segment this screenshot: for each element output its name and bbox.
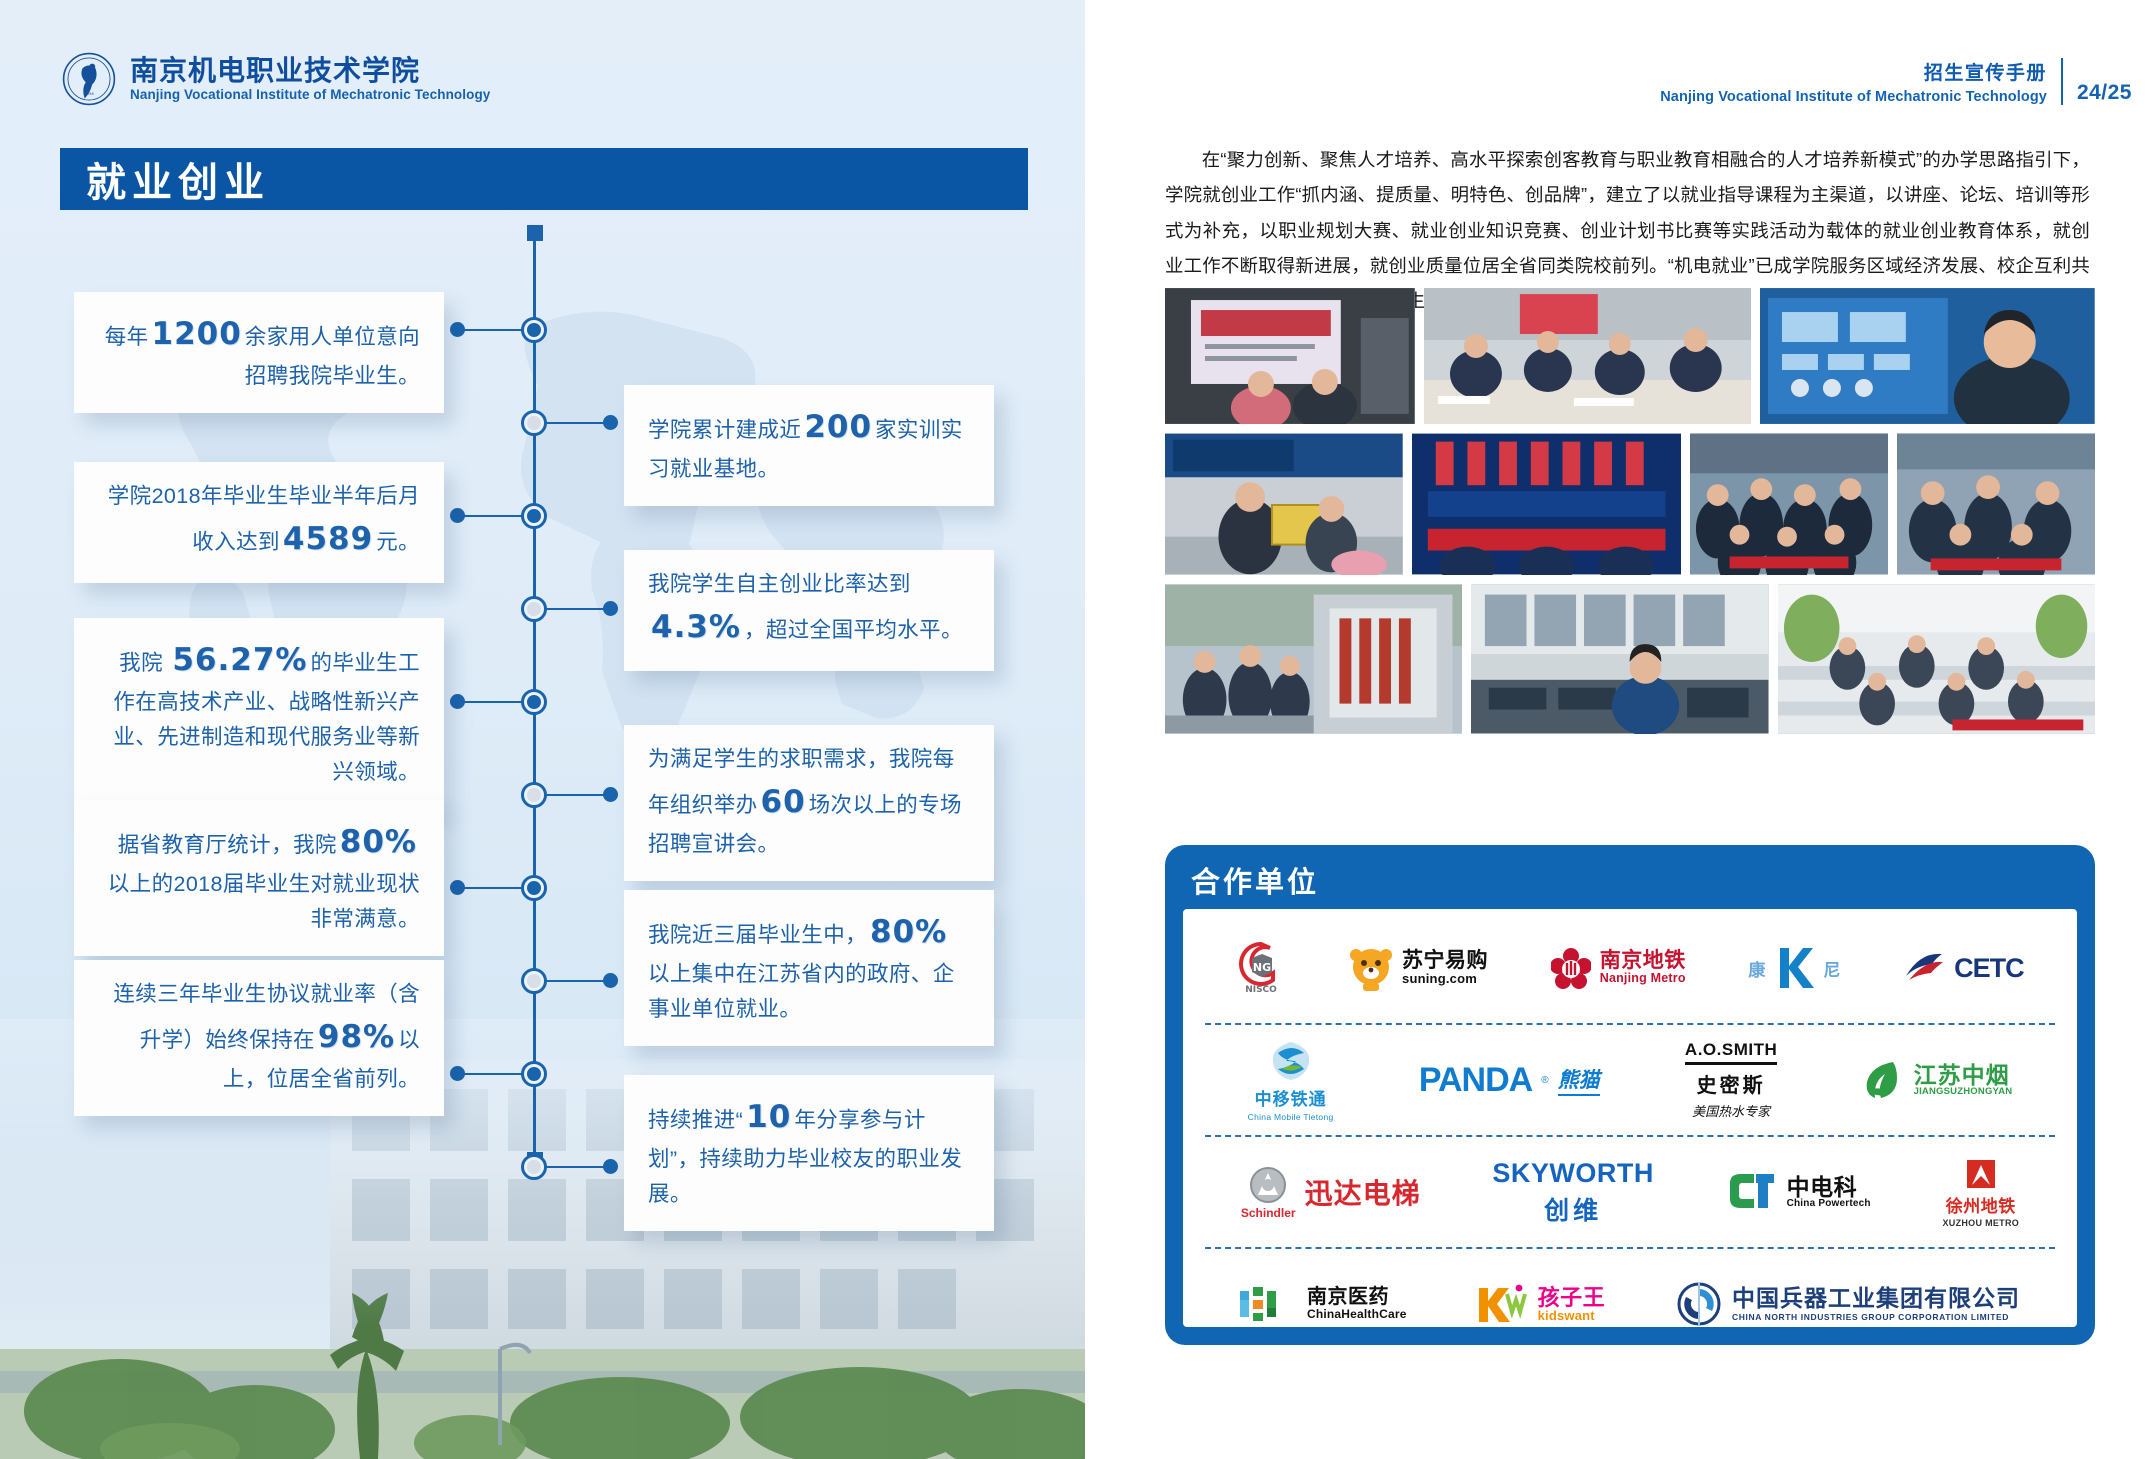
timeline-connector-endcap (603, 973, 618, 988)
timeline-connector-endcap (603, 601, 618, 616)
timeline-node-core (527, 509, 541, 523)
employment-timeline: 每年1200余家用人单位意向招聘我院毕业生。学院累计建成近200家实训实习就业基… (0, 0, 1085, 1459)
timeline-card-text: 据省教育厅统计，我院80%以上的2018届毕业生对就业现状非常满意。 (98, 817, 420, 937)
timeline-text-run: 元。 (376, 530, 420, 554)
panda-wordmark: PANDA (1419, 1061, 1532, 1100)
kangni-logo[interactable]: 康 尼 (1748, 945, 1840, 991)
timeline-highlight-number: 56.27% (169, 642, 310, 678)
timeline-node-core (527, 416, 541, 430)
powertech-name-en: China Powertech (1787, 1199, 1871, 1210)
timeline-text-run: 以上的2018届毕业生对就业现状非常满意。 (108, 872, 420, 931)
jiangsu-zhongyan-logo[interactable]: 江苏中烟 JIANGSUZHONGYAN (1863, 1058, 2013, 1102)
timeline-card-3: 学院2018年毕业生毕业半年后月收入达到4589元。 (74, 462, 444, 583)
brochure-title-cn: 招生宣传手册 (1660, 58, 2047, 85)
timeline-highlight-number: 60 (758, 784, 809, 820)
powertech-name-cn: 中电科 (1787, 1175, 1871, 1199)
timeline-card-text: 我院学生自主创业比率达到4.3%，超过全国平均水平。 (648, 567, 970, 652)
timeline-connector-endcap (603, 1159, 618, 1174)
ao-smith-logo[interactable]: A.O.SMITH 史密斯 美国热水专家 (1685, 1040, 1777, 1120)
timeline-connector-endcap (450, 694, 465, 709)
tietong-swirl-icon (1268, 1039, 1314, 1083)
timeline-card-text: 为满足学生的求职需求，我院每年组织举办60场次以上的专场招聘宣讲会。 (648, 742, 970, 862)
skyworth-wordmark: SKYWORTH (1492, 1158, 1654, 1189)
timeline-card-text: 连续三年毕业生协议就业率（含升学）始终保持在98%以上，位居全省前列。 (98, 977, 420, 1097)
photo-meeting-room (1424, 288, 1752, 424)
xuzhou-metro-name-cn: 徐州地铁 (1946, 1192, 2016, 1217)
timeline-highlight-number: 98% (315, 1019, 398, 1055)
kidswant-kw-icon (1477, 1284, 1529, 1324)
china-north-industries-logo[interactable]: 中国兵器工业集团有限公司 CHINA NORTH INDUSTRIES GROU… (1675, 1280, 2020, 1328)
tietong-name-en: China Mobile Tietong (1248, 1112, 1334, 1122)
suning-logo[interactable]: 苏宁易购 suning.com (1349, 945, 1488, 991)
photo-campus-recruitment (1165, 584, 1462, 734)
nisco-label: NISCO (1246, 985, 1278, 995)
brand-name-en: Nanjing Vocational Institute of Mechatro… (130, 88, 490, 102)
ao-smith-name-cn: 史密斯 (1697, 1069, 1766, 1098)
timeline-connector-endcap (450, 1066, 465, 1081)
timeline-highlight-number: 80% (867, 914, 950, 950)
timeline-text-run: ，超过全国平均水平。 (744, 618, 963, 642)
nanjing-metro-name-en: Nanjing Metro (1600, 972, 1686, 985)
cetc-swoosh-icon (1903, 950, 1945, 986)
institution-brand: 1956 南京机电职业技术学院 Nanjing Vocational Insti… (62, 52, 490, 106)
photo-equipment-training (1760, 288, 2095, 424)
panda-name-cn: 熊猫 (1558, 1064, 1600, 1096)
timeline-node-core (527, 1160, 541, 1174)
zhongyan-name-cn: 江苏中烟 (1914, 1063, 2013, 1087)
norinco-name-cn: 中国兵器工业集团有限公司 (1732, 1286, 2020, 1310)
timeline-card-1: 每年1200余家用人单位意向招聘我院毕业生。 (74, 292, 444, 413)
partners-panel: 合作单位 NG NISCO (1165, 845, 2095, 1345)
photo-office-workplace (1778, 584, 2095, 734)
timeline-connector-endcap (450, 880, 465, 895)
brand-name-cn: 南京机电职业技术学院 (130, 56, 490, 85)
kangni-char-ni: 尼 (1823, 956, 1840, 981)
xuzhou-metro-name-en: XUZHOU METRO (1942, 1218, 2019, 1228)
china-powertech-logo[interactable]: 中电科 China Powertech (1726, 1171, 1871, 1213)
timeline-card-10: 持续推进“10年分享参与计划”，持续助力毕业校友的职业发展。 (624, 1075, 994, 1231)
norinco-mark-icon (1675, 1280, 1723, 1328)
timeline-connector-endcap (450, 322, 465, 337)
timeline-highlight-number: 1200 (149, 316, 245, 352)
kidswant-name-en: kidswant (1538, 1309, 1606, 1323)
nanjing-pharma-name-en: ChinaHealthCare (1307, 1308, 1407, 1321)
timeline-card-8: 我院近三届毕业生中，80%以上集中在江苏省内的政府、企事业单位就业。 (624, 890, 994, 1046)
photo-award-ceremony (1165, 433, 1403, 575)
china-health-care-blocks-icon (1240, 1287, 1298, 1321)
kangni-char-kang: 康 (1748, 956, 1765, 981)
nisco-mark-icon: NG NISCO (1236, 940, 1286, 996)
timeline-card-6: 为满足学生的求职需求，我院每年组织举办60场次以上的专场招聘宣讲会。 (624, 725, 994, 881)
header-divider (2061, 58, 2063, 105)
kangni-k-icon (1774, 945, 1814, 991)
timeline-node-core (527, 974, 541, 988)
kidswant-logo[interactable]: 孩子王 kidswant (1477, 1284, 1606, 1324)
china-mobile-tietong-logo[interactable]: 中移铁通 China Mobile Tietong (1248, 1039, 1334, 1122)
timeline-node-core (527, 788, 541, 802)
tietong-name-cn: 中移铁通 (1255, 1085, 1327, 1110)
timeline-card-text: 我院近三届毕业生中，80%以上集中在江苏省内的政府、企事业单位就业。 (648, 907, 970, 1027)
timeline-node-core (527, 1067, 541, 1081)
timeline-card-text: 每年1200余家用人单位意向招聘我院毕业生。 (98, 309, 420, 394)
university-seal-icon: 1956 (62, 52, 116, 106)
photo-gallery (1165, 288, 2095, 743)
schindler-circle-icon (1246, 1165, 1290, 1209)
timeline-card-9: 连续三年毕业生协议就业率（含升学）始终保持在98%以上，位居全省前列。 (74, 960, 444, 1116)
xuzhou-metro-m-icon (1964, 1157, 1998, 1191)
timeline-card-text: 学院2018年毕业生毕业半年后月收入达到4589元。 (98, 479, 420, 564)
timeline-node-core (527, 881, 541, 895)
timeline-connector-endcap (603, 415, 618, 430)
timeline-card-text: 学院累计建成近200家实训实习就业基地。 (648, 402, 970, 487)
xuzhou-metro-logo[interactable]: 徐州地铁 XUZHOU METRO (1942, 1157, 2019, 1228)
kidswant-name-cn: 孩子王 (1538, 1286, 1606, 1309)
timeline-text-run: 学院累计建成近 (648, 418, 801, 442)
timeline-connector-endcap (603, 787, 618, 802)
photo-group-students (1690, 433, 1888, 575)
timeline-text-run: 我院近三届毕业生中， (648, 923, 867, 947)
photo-group-students-2 (1897, 433, 2095, 575)
schindler-logo[interactable]: Schindler 迅达电梯 (1241, 1165, 1421, 1220)
ao-smith-slogan: 美国热水专家 (1692, 1101, 1770, 1120)
right-page-header: 招生宣传手册 Nanjing Vocational Institute of M… (1660, 58, 2132, 105)
brochure-spread: 1956 南京机电职业技术学院 Nanjing Vocational Insti… (0, 0, 2150, 1459)
ao-smith-wordmark: A.O.SMITH (1685, 1040, 1777, 1065)
nanjing-pharma-name-cn: 南京医药 (1307, 1287, 1407, 1308)
timeline-highlight-number: 4589 (280, 521, 376, 557)
panda-registered-mark: ® (1541, 1075, 1548, 1086)
timeline-highlight-number: 200 (801, 409, 875, 445)
schindler-name-en: Schindler (1241, 1206, 1296, 1220)
nanjing-metro-logo[interactable]: 南京地铁 Nanjing Metro (1551, 947, 1686, 989)
cetc-logo[interactable]: CETC (1903, 950, 2024, 986)
timeline-text-run: 持续推进“ (648, 1108, 743, 1132)
partner-row: 南京医药 ChinaHealthCare 孩子王 kidswant (1205, 1249, 2055, 1359)
schindler-name-cn: 迅达电梯 (1305, 1172, 1421, 1212)
suning-lion-icon (1349, 945, 1393, 991)
brochure-title-en: Nanjing Vocational Institute of Mechatro… (1660, 89, 2047, 105)
nisco-logo[interactable]: NG NISCO (1236, 940, 1286, 996)
skyworth-name-cn: 创维 (1544, 1191, 1602, 1227)
timeline-text-run: 每年 (105, 325, 149, 349)
panda-logo[interactable]: PANDA ® 熊猫 (1419, 1061, 1600, 1100)
cetc-wordmark: CETC (1954, 953, 2024, 984)
skyworth-logo[interactable]: SKYWORTH 创维 (1492, 1158, 1654, 1227)
partner-row: 中移铁通 China Mobile Tietong PANDA ® 熊猫 A.O… (1205, 1025, 2055, 1137)
nanjing-metro-plum-icon (1551, 947, 1591, 989)
partner-row: Schindler 迅达电梯 SKYWORTH 创维 (1205, 1137, 2055, 1249)
timeline-cap-top (527, 225, 543, 241)
partner-row: NG NISCO 苏宁易购 (1205, 913, 2055, 1025)
timeline-text-run: 我院学生自主创业比率达到 (648, 572, 911, 596)
timeline-card-4: 我院学生自主创业比率达到4.3%，超过全国平均水平。 (624, 550, 994, 671)
timeline-text-run: 余家用人单位意向招聘我院毕业生。 (245, 325, 420, 388)
norinco-name-en: CHINA NORTH INDUSTRIES GROUP CORPORATION… (1732, 1313, 2020, 1322)
photo-control-room (1471, 584, 1768, 734)
page-number: 24/25 (2077, 81, 2132, 105)
section-title-banner: 就业创业 (60, 148, 1028, 210)
timeline-node-core (527, 695, 541, 709)
timeline-card-5: 我院 56.27%的毕业生工作在高技术产业、战略性新兴产业、先进制造和现代服务业… (74, 618, 444, 809)
timeline-node-core (527, 323, 541, 337)
timeline-text-run: 我院 (119, 651, 169, 675)
zhongyan-leaf-icon (1863, 1058, 1905, 1102)
timeline-card-text: 持续推进“10年分享参与计划”，持续助力毕业校友的职业发展。 (648, 1092, 970, 1212)
timeline-card-7: 据省教育厅统计，我院80%以上的2018届毕业生对就业现状非常满意。 (74, 800, 444, 956)
photo-entrepreneurship-competition (1412, 433, 1681, 575)
timeline-text-run: 以上集中在江苏省内的政府、企事业单位就业。 (648, 962, 955, 1021)
cpt-mark-icon (1726, 1171, 1778, 1213)
timeline-highlight-number: 4.3% (648, 609, 744, 645)
timeline-card-2: 学院累计建成近200家实训实习就业基地。 (624, 385, 994, 506)
timeline-highlight-number: 10 (743, 1099, 794, 1135)
timeline-card-text: 我院 56.27%的毕业生工作在高技术产业、战略性新兴产业、先进制造和现代服务业… (98, 635, 420, 790)
nanjing-pharma-logo[interactable]: 南京医药 ChinaHealthCare (1240, 1287, 1407, 1321)
timeline-text-run: 据省教育厅统计，我院 (118, 833, 337, 857)
svg-text:NG: NG (1253, 961, 1271, 974)
timeline-node-core (527, 602, 541, 616)
photo-seminar-presentation (1165, 288, 1415, 424)
timeline-connector-endcap (450, 508, 465, 523)
zhongyan-name-en: JIANGSUZHONGYAN (1914, 1087, 2013, 1097)
left-page: 1956 南京机电职业技术学院 Nanjing Vocational Insti… (0, 0, 1085, 1459)
suning-name-en: suning.com (1402, 972, 1488, 986)
nanjing-metro-name-cn: 南京地铁 (1600, 950, 1686, 972)
partners-logo-grid: NG NISCO 苏宁易购 (1183, 909, 2077, 1327)
suning-name-cn: 苏宁易购 (1402, 950, 1488, 972)
svg-text:1956: 1956 (84, 91, 94, 96)
right-page: 招生宣传手册 Nanjing Vocational Institute of M… (1085, 0, 2150, 1459)
partners-title: 合作单位 (1165, 845, 2095, 912)
timeline-highlight-number: 80% (337, 824, 420, 860)
section-title: 就业创业 (86, 150, 270, 208)
